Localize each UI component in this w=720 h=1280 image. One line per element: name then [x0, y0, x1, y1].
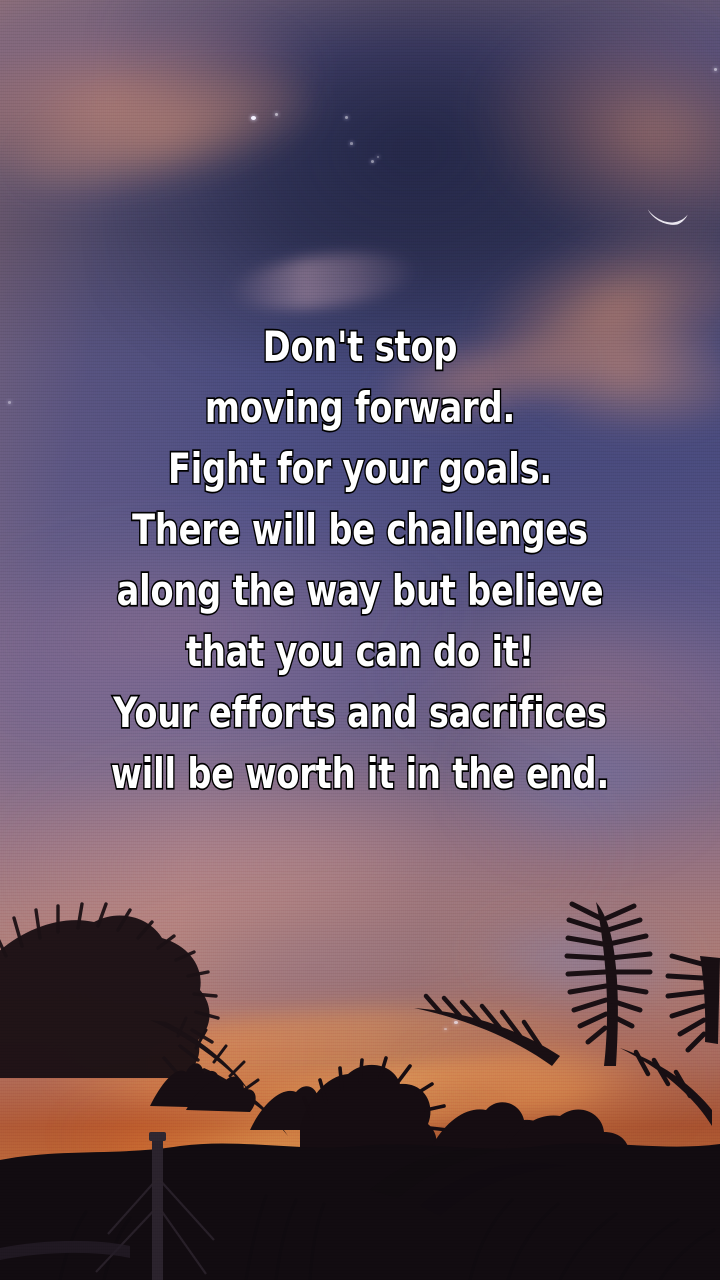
film-grain-overlay: [0, 0, 720, 1280]
quote-wallpaper: Don't stop moving forward. Fight for you…: [0, 0, 720, 1280]
